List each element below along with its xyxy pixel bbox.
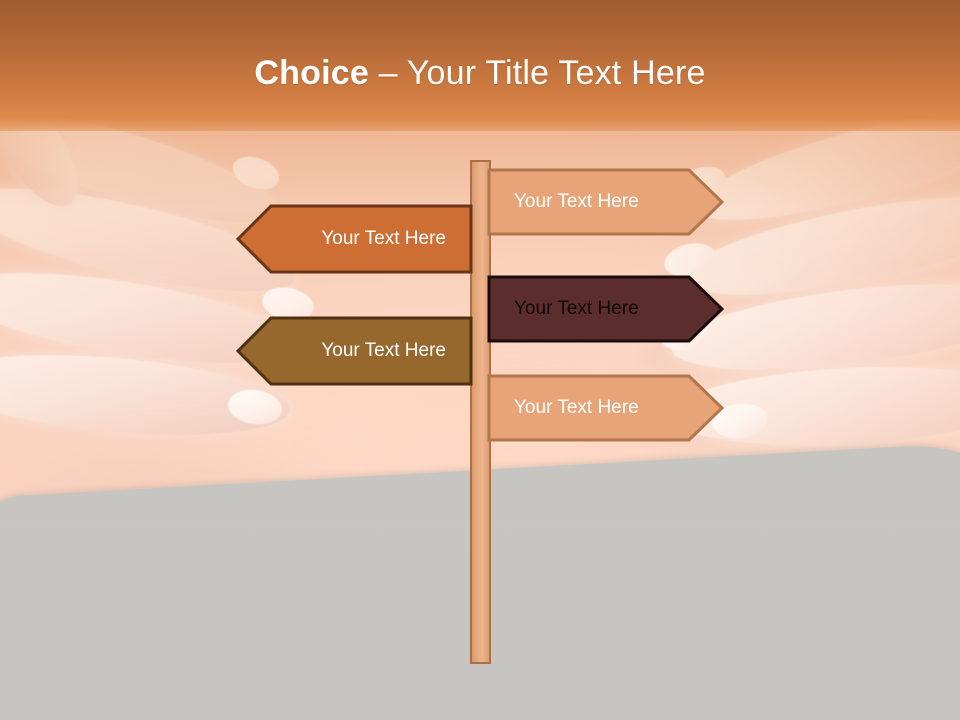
page-title-strong: Choice — [254, 54, 369, 92]
slide-canvas: Choice – Your Title Text Here Your Text … — [0, 0, 960, 720]
sign-right-1-shape — [488, 169, 723, 235]
sign-right-2[interactable]: Your Text Here — [488, 276, 723, 342]
sign-left-1-shape — [237, 205, 472, 273]
sign-left-1[interactable]: Your Text Here — [237, 205, 472, 273]
sign-right-2-shape — [488, 276, 723, 342]
page-title-rest: – Your Title Text Here — [369, 54, 706, 92]
sign-left-2-shape — [237, 317, 472, 385]
sign-right-3-shape — [488, 375, 723, 441]
sign-right-1[interactable]: Your Text Here — [488, 169, 723, 235]
sign-left-2[interactable]: Your Text Here — [237, 317, 472, 385]
page-title: Choice – Your Title Text Here — [0, 52, 960, 94]
sign-right-3[interactable]: Your Text Here — [488, 375, 723, 441]
